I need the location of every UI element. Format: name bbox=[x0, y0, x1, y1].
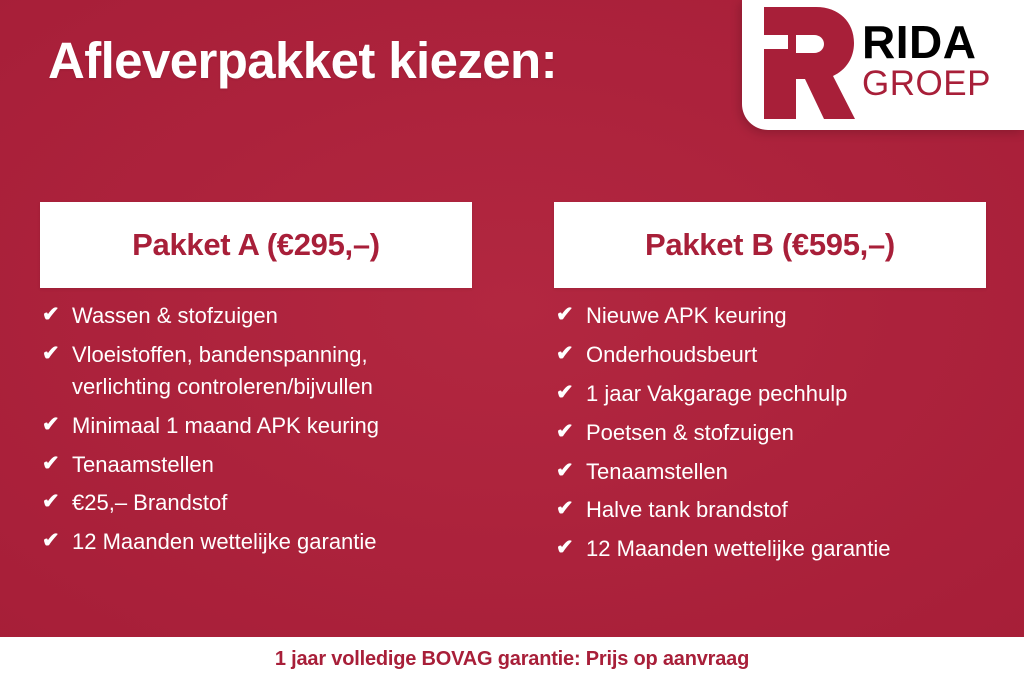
feature-label: Tenaamstellen bbox=[72, 449, 472, 481]
package-b-title: Pakket B (€595,–) bbox=[645, 227, 895, 263]
feature-label: Tenaamstellen bbox=[586, 456, 986, 488]
feature-label: Wassen & stofzuigen bbox=[72, 300, 472, 332]
list-item: ✔ Halve tank brandstof bbox=[554, 494, 986, 526]
check-icon: ✔ bbox=[556, 378, 586, 408]
package-b-header: Pakket B (€595,–) bbox=[554, 202, 986, 288]
footer-note: 1 jaar volledige BOVAG garantie: Prijs o… bbox=[275, 648, 749, 671]
check-icon: ✔ bbox=[42, 300, 72, 330]
feature-label: Poetsen & stofzuigen bbox=[586, 417, 986, 449]
check-icon: ✔ bbox=[556, 456, 586, 486]
promo-poster: Afleverpakket kiezen: RIDA GROEP Pakket … bbox=[0, 0, 1024, 682]
check-icon: ✔ bbox=[42, 526, 72, 556]
check-icon: ✔ bbox=[42, 410, 72, 440]
package-a-header: Pakket A (€295,–) bbox=[40, 202, 472, 288]
feature-label: Halve tank brandstof bbox=[586, 494, 986, 526]
feature-label: 12 Maanden wettelijke garantie bbox=[72, 526, 472, 558]
package-card-b[interactable]: Pakket B (€595,–) ✔ Nieuwe APK keuring ✔… bbox=[554, 202, 986, 572]
check-icon: ✔ bbox=[556, 339, 586, 369]
feature-label: Nieuwe APK keuring bbox=[586, 300, 986, 332]
footer-bar: 1 jaar volledige BOVAG garantie: Prijs o… bbox=[0, 637, 1024, 682]
check-icon: ✔ bbox=[556, 533, 586, 563]
list-item: ✔ Poetsen & stofzuigen bbox=[554, 417, 986, 449]
brand-logo-panel: RIDA GROEP bbox=[742, 0, 1024, 130]
check-icon: ✔ bbox=[556, 417, 586, 447]
list-item: ✔ Onderhoudsbeurt bbox=[554, 339, 986, 371]
list-item: ✔ 12 Maanden wettelijke garantie bbox=[40, 526, 472, 558]
feature-label: Onderhoudsbeurt bbox=[586, 339, 986, 371]
check-icon: ✔ bbox=[42, 449, 72, 479]
page-title: Afleverpakket kiezen: bbox=[48, 34, 557, 88]
check-icon: ✔ bbox=[556, 300, 586, 330]
check-icon: ✔ bbox=[42, 339, 72, 369]
list-item: ✔ €25,– Brandstof bbox=[40, 487, 472, 519]
package-a-title: Pakket A (€295,–) bbox=[132, 227, 380, 263]
list-item: ✔ Vloeistoffen, bandenspanning, verlicht… bbox=[40, 339, 472, 403]
feature-label: 12 Maanden wettelijke garantie bbox=[586, 533, 986, 565]
check-icon: ✔ bbox=[42, 487, 72, 517]
poster-header: Afleverpakket kiezen: RIDA GROEP bbox=[0, 0, 1024, 140]
list-item: ✔ Tenaamstellen bbox=[554, 456, 986, 488]
list-item: ✔ Nieuwe APK keuring bbox=[554, 300, 986, 332]
package-a-feature-list: ✔ Wassen & stofzuigen ✔ Vloeistoffen, ba… bbox=[40, 300, 472, 558]
package-card-a[interactable]: Pakket A (€295,–) ✔ Wassen & stofzuigen … bbox=[40, 202, 472, 565]
list-item: ✔ 1 jaar Vakgarage pechhulp bbox=[554, 378, 986, 410]
list-item: ✔ Wassen & stofzuigen bbox=[40, 300, 472, 332]
package-b-feature-list: ✔ Nieuwe APK keuring ✔ Onderhoudsbeurt ✔… bbox=[554, 300, 986, 565]
brand-name-secondary: GROEP bbox=[862, 67, 991, 101]
feature-label: Vloeistoffen, bandenspanning, verlichtin… bbox=[72, 339, 472, 403]
feature-label: Minimaal 1 maand APK keuring bbox=[72, 410, 472, 442]
list-item: ✔ Minimaal 1 maand APK keuring bbox=[40, 410, 472, 442]
feature-label: 1 jaar Vakgarage pechhulp bbox=[586, 378, 986, 410]
check-icon: ✔ bbox=[556, 494, 586, 524]
feature-label: €25,– Brandstof bbox=[72, 487, 472, 519]
rida-r-logo-icon bbox=[760, 5, 856, 121]
brand-name-primary: RIDA bbox=[862, 20, 991, 65]
list-item: ✔ Tenaamstellen bbox=[40, 449, 472, 481]
brand-wordmark: RIDA GROEP bbox=[862, 20, 991, 105]
list-item: ✔ 12 Maanden wettelijke garantie bbox=[554, 533, 986, 565]
